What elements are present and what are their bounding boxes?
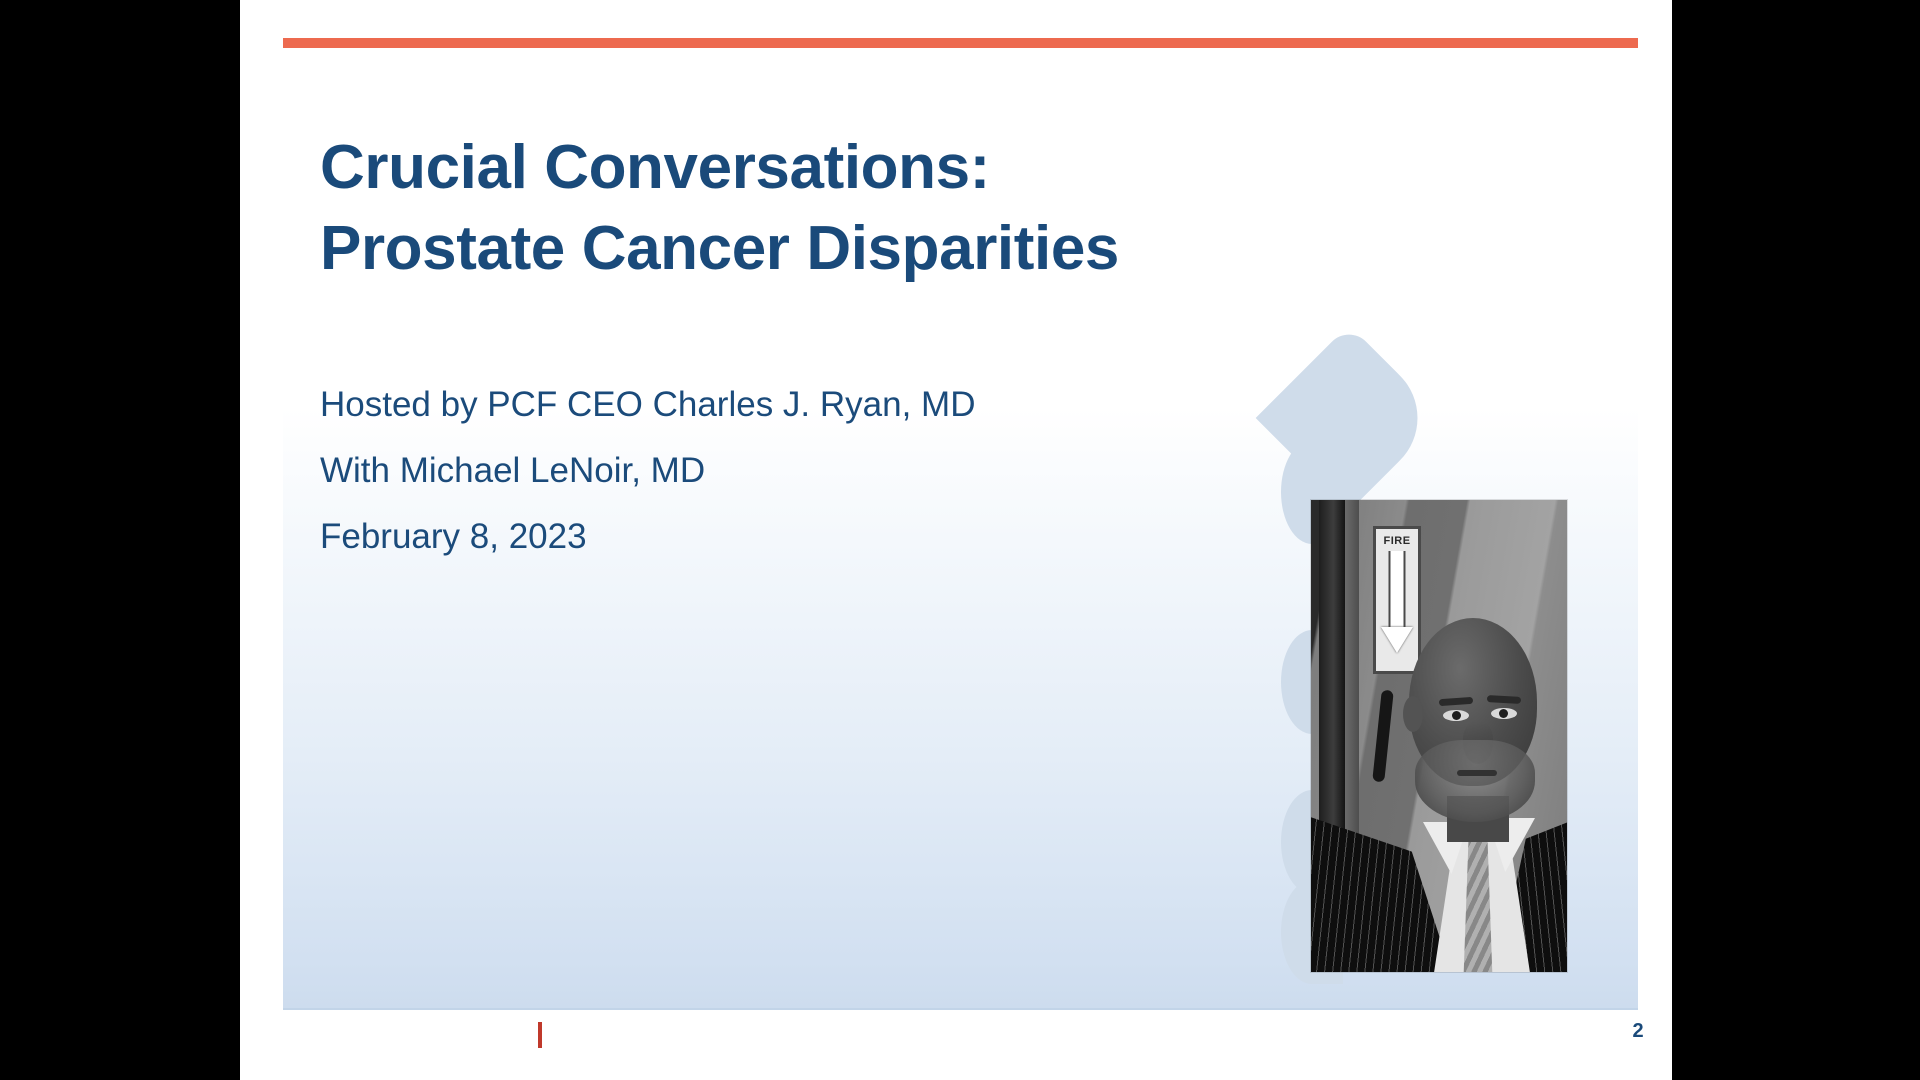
photo-beard bbox=[1415, 740, 1535, 822]
subtitle-guest-line: With Michael LeNoir, MD bbox=[320, 438, 1320, 504]
page-number: 2 bbox=[1618, 1020, 1658, 1043]
photo-ear bbox=[1403, 696, 1423, 732]
fire-extinguisher-sign-icon: FIRE bbox=[1373, 526, 1421, 674]
photo-mouth bbox=[1457, 770, 1497, 776]
top-accent-rule bbox=[283, 38, 1638, 48]
portrait-image: FIRE bbox=[1311, 500, 1567, 972]
subtitle-date-line: February 8, 2023 bbox=[320, 504, 1320, 570]
title-line-2: Prostate Cancer Disparities bbox=[320, 209, 1420, 290]
presentation-stage: FIRE bbox=[0, 0, 1920, 1080]
slide-subtitle: Hosted by PCF CEO Charles J. Ryan, MD Wi… bbox=[320, 372, 1320, 569]
slide-canvas: FIRE bbox=[240, 0, 1672, 1080]
footer-accent-tick bbox=[538, 1022, 542, 1048]
speaker-portrait-photo: FIRE bbox=[1311, 500, 1567, 972]
photo-eye-left bbox=[1443, 710, 1469, 721]
photo-eye-right bbox=[1491, 708, 1517, 719]
sign-arrow-stem bbox=[1389, 551, 1406, 629]
sign-arrow-head bbox=[1381, 627, 1413, 653]
slide-title: Crucial Conversations: Prostate Cancer D… bbox=[320, 128, 1420, 289]
subtitle-host-line: Hosted by PCF CEO Charles J. Ryan, MD bbox=[320, 372, 1320, 438]
sign-label: FIRE bbox=[1376, 535, 1418, 547]
title-line-1: Crucial Conversations: bbox=[320, 128, 1420, 209]
